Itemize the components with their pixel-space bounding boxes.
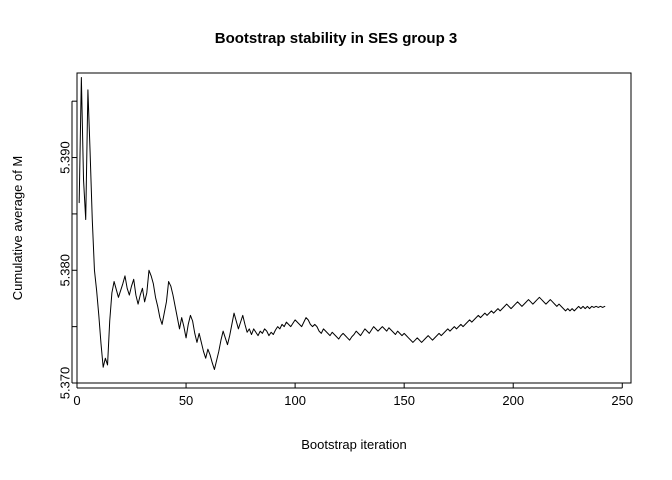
data-series-line bbox=[79, 78, 605, 370]
chart-page: Bootstrap stability in SES group 3 5.370… bbox=[0, 0, 672, 480]
x-tick-label: 100 bbox=[284, 393, 306, 408]
y-axis: 5.3705.3805.390 bbox=[58, 101, 78, 399]
y-tick-label: 5.370 bbox=[58, 367, 73, 400]
x-tick-label: 50 bbox=[179, 393, 193, 408]
plot-area: 5.3705.3805.390 050100150200250 Bootstra… bbox=[0, 0, 672, 480]
plot-frame bbox=[77, 73, 631, 383]
y-axis-title: Cumulative average of M bbox=[10, 156, 25, 301]
x-tick-label: 0 bbox=[73, 393, 80, 408]
x-tick-label: 200 bbox=[502, 393, 524, 408]
y-tick-label: 5.380 bbox=[58, 254, 73, 287]
x-tick-label: 150 bbox=[393, 393, 415, 408]
y-tick-label: 5.390 bbox=[58, 141, 73, 174]
x-axis: 050100150200250 bbox=[73, 383, 633, 408]
x-axis-title: Bootstrap iteration bbox=[301, 437, 407, 452]
x-tick-label: 250 bbox=[611, 393, 633, 408]
